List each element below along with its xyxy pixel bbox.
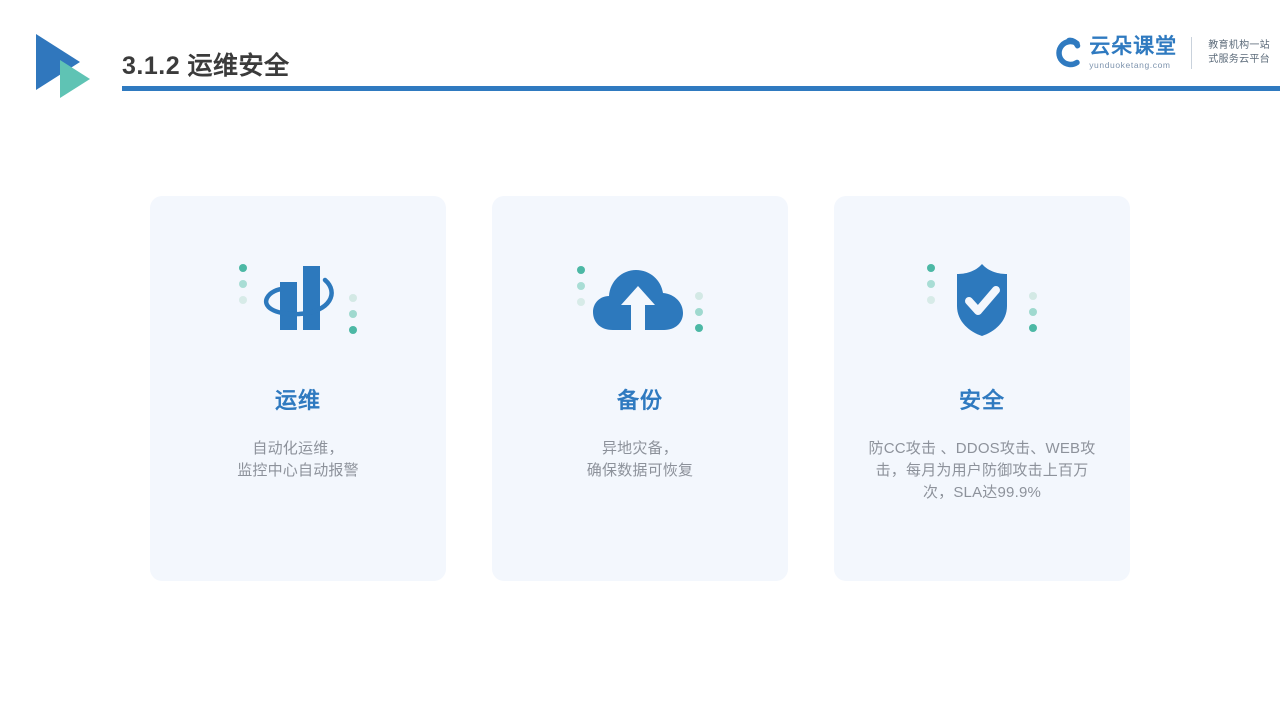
logo-tagline: 教育机构一站 式服务云平台 [1208, 39, 1270, 67]
logo-tagline-line1: 教育机构一站 [1208, 39, 1270, 53]
card-title: 运维 [275, 388, 321, 414]
logo-lockup: 云朵课堂 yunduoketang.com [1047, 33, 1177, 73]
feature-card-security[interactable]: 安全 防CC攻击 、DDOS攻击、WEB攻击，每月为用户防御攻击上百万次，SLA… [834, 196, 1130, 581]
feature-card-backup[interactable]: 备份 异地灾备， 确保数据可恢复 [492, 196, 788, 581]
title-underline-rule [122, 86, 1280, 91]
logo-domain: yunduoketang.com [1089, 59, 1177, 71]
card-description: 防CC攻击 、DDOS攻击、WEB攻击，每月为用户防御攻击上百万次，SLA达99… [864, 438, 1100, 504]
card-description: 异地灾备， 确保数据可恢复 [522, 438, 758, 482]
feature-card-row: 运维 自动化运维， 监控中心自动报警 备份 异地灾备， 确保数据可恢复 [150, 196, 1130, 581]
cloud-upload-icon [565, 254, 715, 344]
logo-tagline-line2: 式服务云平台 [1208, 53, 1270, 67]
shield-check-icon [907, 254, 1057, 344]
slide-header: 3.1.2 运维安全 云朵课堂 yunduoketang.com 教育机构一站 … [0, 0, 1280, 100]
cloud-outline-icon [1047, 33, 1087, 73]
card-description: 自动化运维， 监控中心自动报警 [180, 438, 416, 482]
page-title: 3.1.2 运维安全 [122, 50, 290, 82]
logo-name-cn: 云朵课堂 [1089, 36, 1177, 58]
feature-card-operations[interactable]: 运维 自动化运维， 监控中心自动报警 [150, 196, 446, 581]
corporate-logo: 云朵课堂 yunduoketang.com 教育机构一站 式服务云平台 [1047, 30, 1270, 76]
bar-chart-orbit-icon [223, 254, 373, 344]
card-title: 安全 [959, 388, 1005, 414]
logo-divider [1191, 37, 1192, 69]
card-title: 备份 [617, 388, 663, 414]
double-triangle-play-logo-icon [28, 28, 100, 100]
logo-wordblock: 云朵课堂 yunduoketang.com [1089, 36, 1177, 71]
